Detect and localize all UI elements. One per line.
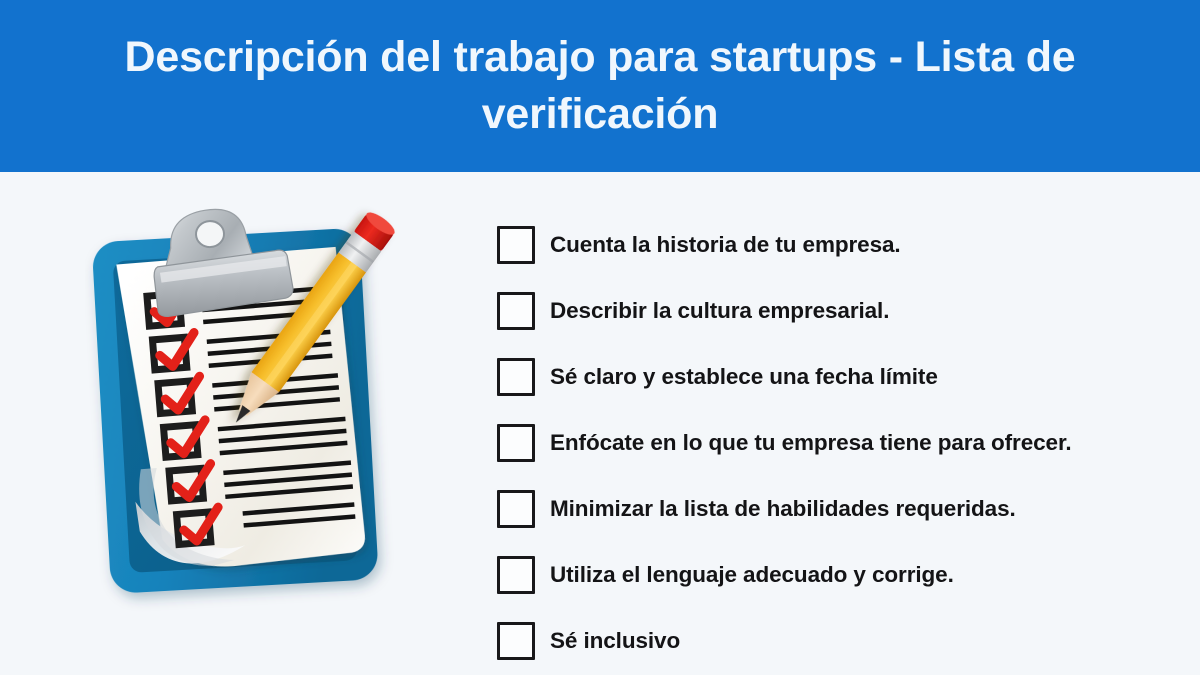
checklist-item-label: Describir la cultura empresarial.	[550, 298, 889, 324]
checklist: Cuenta la historia de tu empresa. Descri…	[497, 212, 1157, 674]
checklist-item-label: Utiliza el lenguaje adecuado y corrige.	[550, 562, 954, 588]
checkbox-6[interactable]	[497, 556, 535, 594]
checklist-item-2[interactable]: Describir la cultura empresarial.	[497, 278, 1157, 344]
body-area: Cuenta la historia de tu empresa. Descri…	[0, 172, 1200, 675]
checkbox-5[interactable]	[497, 490, 535, 528]
page-title: Descripción del trabajo para startups - …	[55, 29, 1145, 143]
checkbox-1[interactable]	[497, 226, 535, 264]
slide-canvas: Descripción del trabajo para startups - …	[0, 0, 1200, 675]
checklist-item-3[interactable]: Sé claro y establece una fecha límite	[497, 344, 1157, 410]
checklist-item-label: Enfócate en lo que tu empresa tiene para…	[550, 430, 1072, 456]
checklist-item-label: Sé claro y establece una fecha límite	[550, 364, 938, 390]
clipboard-checklist-illustration	[85, 192, 415, 642]
checklist-item-label: Cuenta la historia de tu empresa.	[550, 232, 901, 258]
checklist-item-label: Minimizar la lista de habilidades requer…	[550, 496, 1016, 522]
checkbox-7[interactable]	[497, 622, 535, 660]
checklist-item-1[interactable]: Cuenta la historia de tu empresa.	[497, 212, 1157, 278]
checklist-item-7[interactable]: Sé inclusivo	[497, 608, 1157, 674]
header-banner: Descripción del trabajo para startups - …	[0, 0, 1200, 172]
checklist-item-label: Sé inclusivo	[550, 628, 680, 654]
checklist-item-6[interactable]: Utiliza el lenguaje adecuado y corrige.	[497, 542, 1157, 608]
checkbox-3[interactable]	[497, 358, 535, 396]
checklist-item-5[interactable]: Minimizar la lista de habilidades requer…	[497, 476, 1157, 542]
clipboard-metal-clip	[151, 205, 294, 317]
checkbox-4[interactable]	[497, 424, 535, 462]
checkbox-2[interactable]	[497, 292, 535, 330]
checklist-item-4[interactable]: Enfócate en lo que tu empresa tiene para…	[497, 410, 1157, 476]
